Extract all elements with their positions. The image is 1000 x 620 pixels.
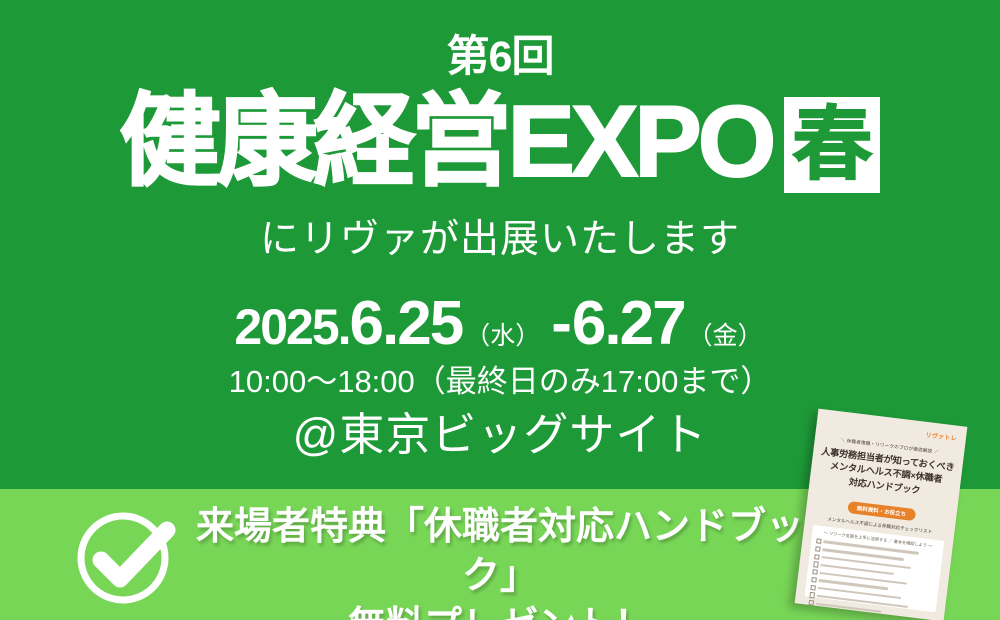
edition-label: 第6回 — [0, 36, 1000, 79]
checkbox-icon — [811, 577, 817, 583]
visitor-gift-text: 来場者特典「休職者対応ハンドブック」 無料プレゼント！ — [190, 503, 810, 620]
exhibit-subtitle: にリヴァが出展いたします — [0, 216, 1000, 265]
event-title-text: 健康経営EXPO — [120, 88, 773, 197]
season-badge: 春 — [784, 97, 880, 193]
handbook-logo: リヴァトレ — [925, 430, 957, 443]
checkbox-icon — [809, 592, 815, 598]
checkbox-icon — [812, 569, 818, 575]
handbook-brochure-image: リヴァトレ ＼ 休職者復職・リワークのプロが徹底解説 ／ 人事労務担当者が知って… — [795, 409, 968, 620]
checkbox-icon — [808, 600, 814, 606]
gift-line-2: 無料プレゼント！ — [190, 602, 810, 620]
checkbox-icon — [814, 554, 820, 560]
checkbox-icon — [813, 562, 819, 568]
check-circle-icon — [73, 503, 177, 607]
checkbox-icon — [810, 585, 816, 591]
date-start-dayofweek: （水） — [465, 316, 540, 352]
checkbox-icon — [815, 546, 821, 552]
date-end-dayofweek: （金） — [688, 316, 763, 352]
expo-promo-banner: 第6回 健康経営EXPO 春 にリヴァが出展いたします 2025. 6.25 （… — [0, 0, 1000, 620]
date-year: 2025. — [234, 298, 349, 356]
gift-line-1: 来場者特典「休職者対応ハンドブック」 — [196, 506, 804, 597]
date-start: 6.25 — [350, 288, 463, 359]
date-end: 6.27 — [572, 288, 685, 359]
checkbox-icon — [816, 538, 822, 544]
handbook-checklist-card: ～ リワーク支援を上手に活用する ／ 基本を確認しよう ～ — [805, 525, 945, 613]
date-range-dash: - — [551, 288, 572, 359]
event-hours: 10:00〜18:00（最終日のみ17:00まで） — [0, 356, 1000, 401]
handbook-badge: 無料資料・お役立ち — [847, 501, 915, 521]
event-title: 健康経営EXPO 春 — [0, 88, 1000, 197]
event-dates: 2025. 6.25 （水） - 6.27 （金） — [0, 288, 1000, 359]
